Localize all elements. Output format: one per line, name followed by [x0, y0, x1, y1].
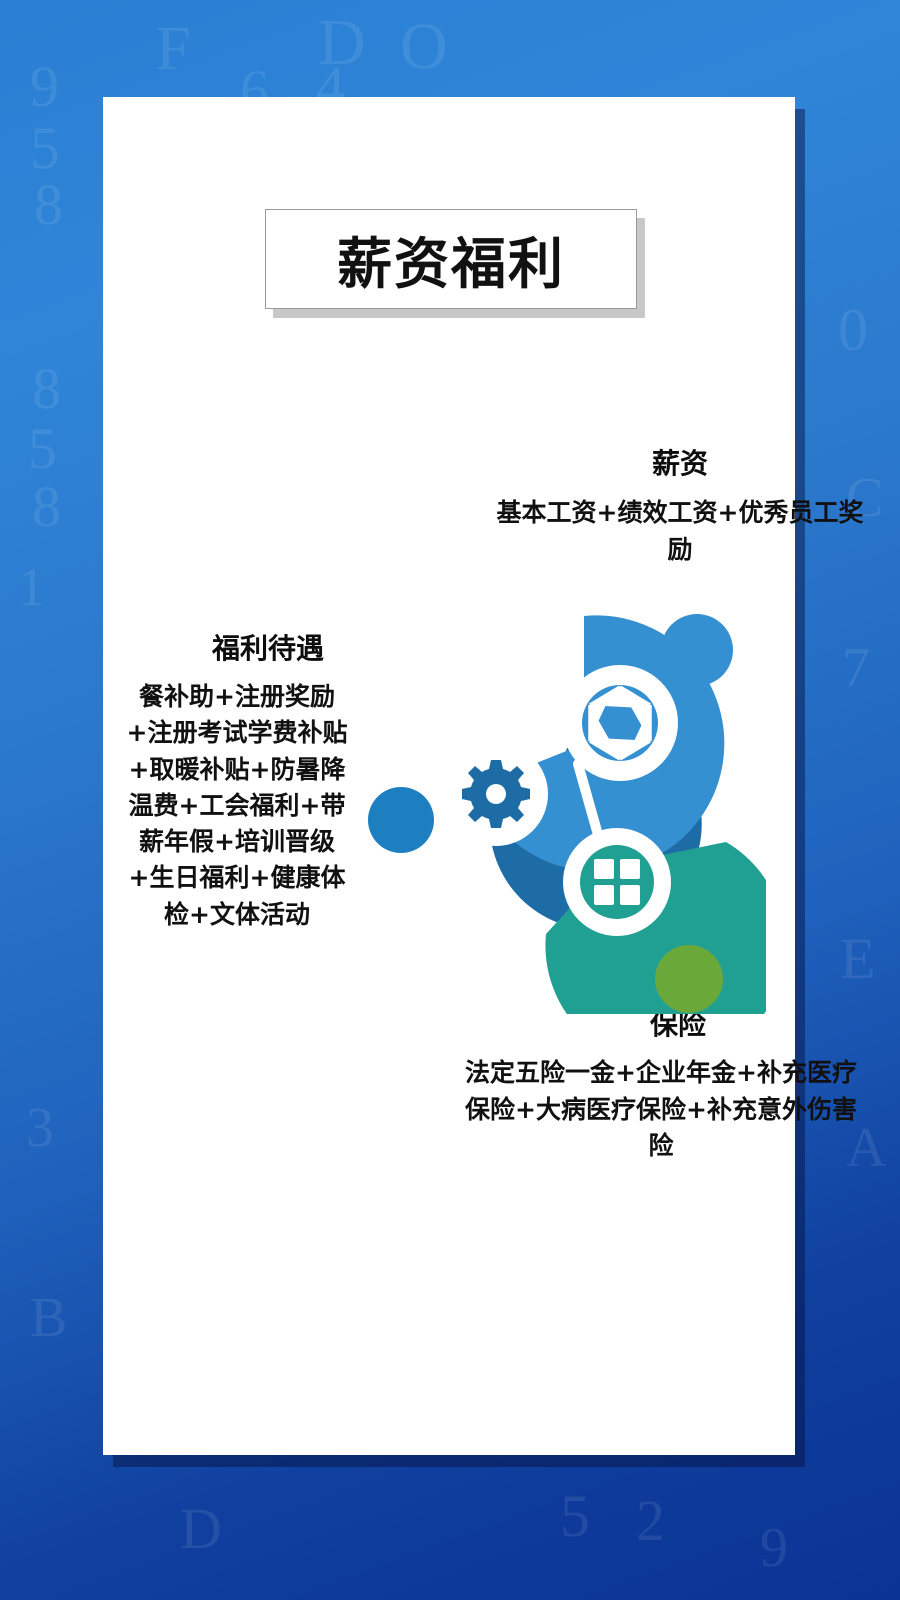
watermark-char: 0: [838, 300, 868, 360]
central-pinwheel-graphic: [346, 594, 766, 1014]
watermark-char: F: [156, 18, 190, 80]
section-body-insurance: 法定五险一金+企业年金+补充医疗保险+大病医疗保险+补充意外伤害险: [455, 1055, 867, 1165]
watermark-char: 9: [760, 1520, 788, 1576]
watermark-char: 9: [30, 58, 59, 116]
watermark-char: 5: [30, 118, 60, 178]
watermark-char: 2: [636, 1492, 665, 1550]
watermark-char: 1: [18, 560, 45, 614]
watermark-char: O: [400, 14, 448, 80]
watermark-char: E: [840, 930, 875, 988]
watermark-char: D: [180, 1500, 222, 1558]
watermark-char: 7: [842, 640, 870, 696]
dot-bottom-right: [655, 945, 723, 1013]
white-content-card: 薪资福利 薪资 基本工资+绩效工资+优秀员工奖励 福利待遇 餐补助+注册奖励+注…: [103, 97, 795, 1455]
gear-icon: [444, 742, 548, 846]
section-body-benefits: 餐补助+注册奖励+注册考试学费补贴+取暖补贴+防暑降温费+工会福利+带薪年假+培…: [117, 679, 357, 933]
section-body-salary: 基本工资+绩效工资+优秀员工奖励: [495, 495, 865, 568]
watermark-char: 8: [32, 360, 61, 418]
window-panes-icon: [563, 828, 671, 936]
watermark-char: 8: [32, 478, 61, 536]
watermark-char: 3: [26, 1100, 54, 1156]
title-banner-box: 薪资福利: [265, 209, 637, 309]
title-banner: 薪资福利: [265, 209, 637, 309]
watermark-char: 8: [34, 176, 63, 234]
camera-aperture-icon: [562, 665, 678, 781]
section-heading-salary: 薪资: [600, 442, 760, 482]
dot-top-right: [661, 614, 733, 686]
dot-left: [368, 787, 434, 853]
watermark-char: 5: [560, 1486, 590, 1546]
watermark-char: B: [30, 1290, 67, 1346]
watermark-char: 5: [28, 420, 57, 478]
page-title: 薪资福利: [337, 219, 565, 299]
